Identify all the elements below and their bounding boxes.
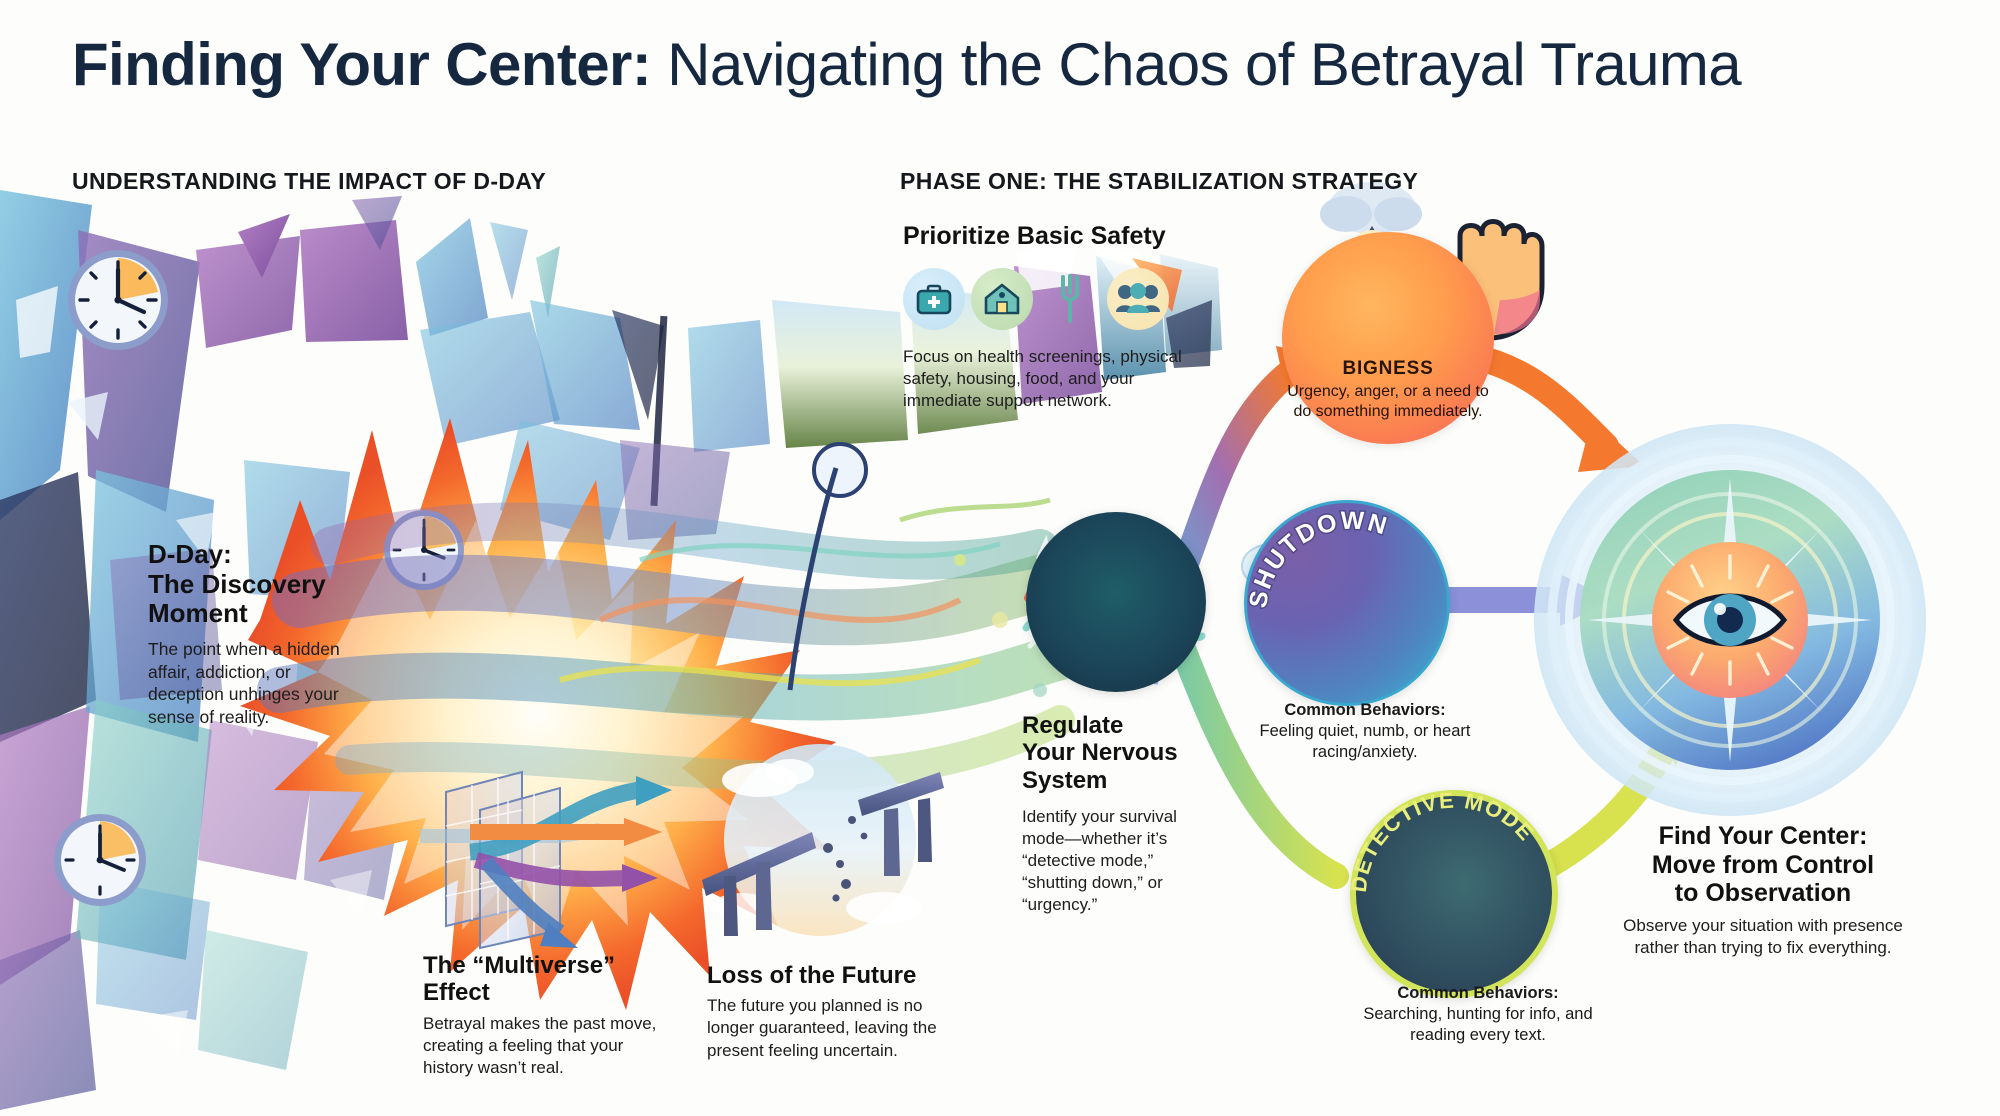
- shutdown-label-arc: SHUTDOWN: [1244, 500, 1444, 700]
- future-block: Loss of the Future The future you planne…: [707, 962, 957, 1062]
- find-center-block: Find Your Center: Move from Control to O…: [1608, 822, 1918, 959]
- infographic-canvas: ? ? Finding Your Center: Navigating the …: [0, 0, 2000, 1116]
- nervous-system-title: Regulate Your Nervous System: [1022, 712, 1202, 794]
- multiverse-block: The “Multiverse” Effect Betrayal makes t…: [423, 952, 658, 1079]
- find-center-body: Observe your situation with presence rat…: [1608, 915, 1918, 959]
- melting-clock-icon-1: [68, 250, 168, 350]
- people-group-icon: [1107, 268, 1169, 330]
- detective-label-arc: DETECTIVE MODE: [1350, 786, 1550, 986]
- safety-icon-row: [903, 268, 1169, 330]
- bigness-text: BIGNESS Urgency, anger, or a need to do …: [1282, 358, 1494, 421]
- bigness-label: BIGNESS: [1282, 358, 1494, 380]
- future-title: Loss of the Future: [707, 962, 957, 989]
- fork-icon: [1039, 268, 1101, 330]
- safety-block: Prioritize Basic Safety: [903, 222, 1203, 251]
- svg-text:SHUTDOWN: SHUTDOWN: [1244, 507, 1392, 610]
- multiverse-body: Betrayal makes the past move, creating a…: [423, 1013, 658, 1079]
- page-title-bold: Finding Your Center:: [72, 31, 651, 98]
- multiverse-title: The “Multiverse” Effect: [423, 952, 658, 1007]
- house-icon: [971, 268, 1033, 330]
- compass-eye-icon: [1534, 424, 1926, 816]
- detective-caption: Common Behaviors: Searching, hunting for…: [1338, 983, 1618, 1046]
- section-header-right: PHASE ONE: THE STABILIZATION STRATEGY: [900, 168, 1418, 195]
- detective-caption-title: Common Behaviors:: [1397, 984, 1558, 1002]
- future-body: The future you planned is no longer guar…: [707, 995, 957, 1061]
- nervous-system-bubble: [1026, 512, 1206, 692]
- shutdown-caption: Common Behaviors: Feeling quiet, numb, o…: [1230, 700, 1500, 763]
- nervous-system-block: Regulate Your Nervous System Identify yo…: [1022, 712, 1202, 917]
- dday-title: D-Day: The Discovery Moment: [148, 540, 363, 629]
- medical-kit-icon: [903, 268, 965, 330]
- bigness-description: Urgency, anger, or a need to do somethin…: [1282, 382, 1494, 421]
- svg-text:DETECTIVE MODE: DETECTIVE MODE: [1350, 788, 1539, 894]
- shutdown-caption-body: Feeling quiet, numb, or heart racing/anx…: [1260, 722, 1471, 761]
- section-header-left: UNDERSTANDING THE IMPACT OF D-DAY: [72, 168, 546, 195]
- page-title: Finding Your Center: Navigating the Chao…: [72, 30, 1952, 99]
- safety-body: Focus on health screenings, physical saf…: [903, 346, 1203, 412]
- safety-title: Prioritize Basic Safety: [903, 222, 1203, 251]
- melting-clock-icon-3: [54, 814, 146, 906]
- dday-block: D-Day: The Discovery Moment The point wh…: [148, 540, 363, 729]
- detective-caption-body: Searching, hunting for info, and reading…: [1363, 1005, 1592, 1044]
- dday-body: The point when a hidden affair, addictio…: [148, 638, 363, 729]
- shutdown-caption-title: Common Behaviors:: [1284, 701, 1445, 719]
- page-title-light: Navigating the Chaos of Betrayal Trauma: [651, 31, 1741, 98]
- nervous-system-body: Identify your survival mode—whether it’s…: [1022, 806, 1202, 916]
- find-center-title: Find Your Center: Move from Control to O…: [1608, 822, 1918, 908]
